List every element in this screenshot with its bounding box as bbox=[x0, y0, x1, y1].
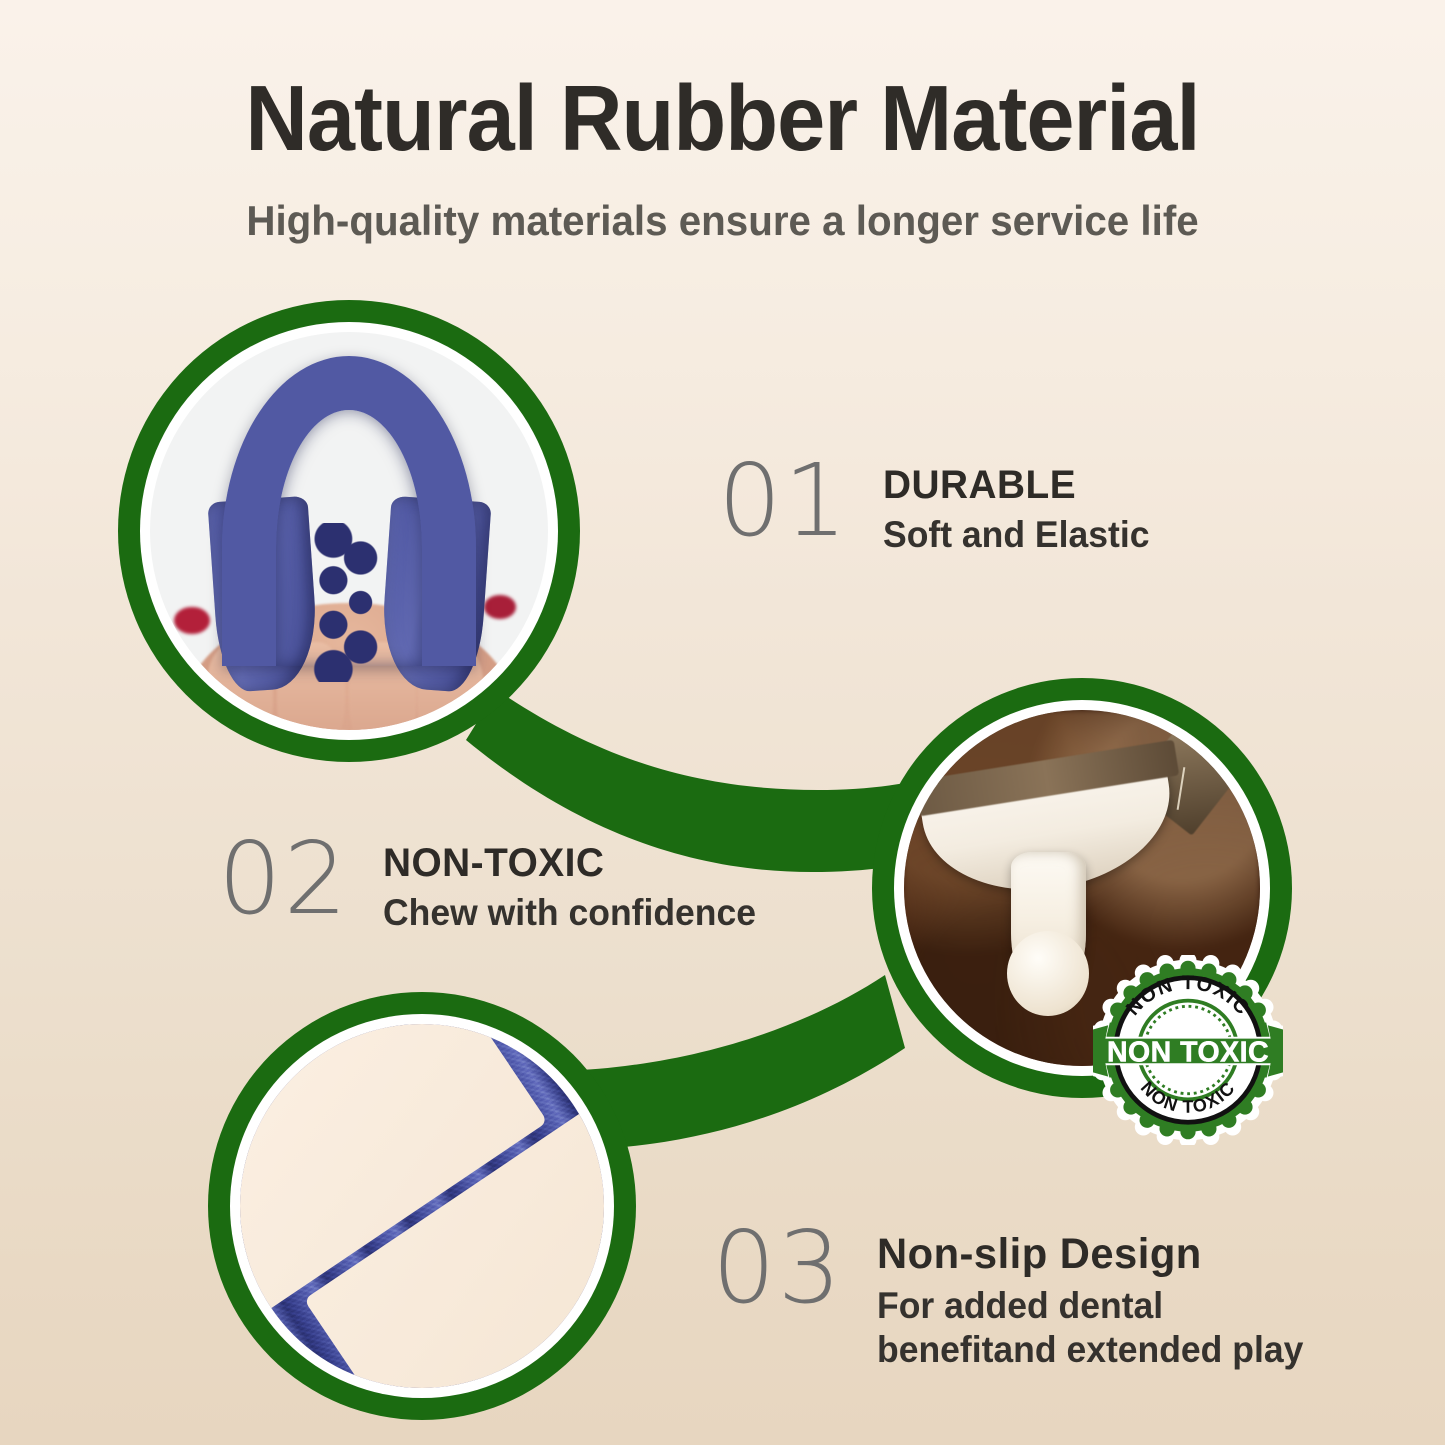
feature-image-non-slip bbox=[208, 992, 636, 1420]
feature-title-non-slip: Non-slip Design bbox=[877, 1230, 1308, 1279]
feature-subtitle-non-slip: For added dental benefitand extended pla… bbox=[877, 1285, 1303, 1371]
feature-subtitle-line2: benefitand extended play bbox=[877, 1329, 1303, 1371]
toy-nub-texture bbox=[313, 523, 381, 682]
circle-white-ring-1 bbox=[140, 322, 558, 740]
feature-text-01: DURABLE Soft and Elastic bbox=[883, 455, 1161, 556]
feature-image-durable bbox=[118, 300, 580, 762]
circle-white-ring-3 bbox=[230, 1014, 614, 1398]
feature-subtitle-durable: Soft and Elastic bbox=[883, 514, 1149, 556]
photo-blue-toy-in-hand bbox=[150, 332, 548, 730]
feature-block-non-toxic: 02 NON-TOXIC Chew with confidence bbox=[218, 833, 772, 934]
feature-number-01: 01 bbox=[718, 455, 849, 547]
feature-subtitle-line1: For added dental bbox=[877, 1285, 1163, 1326]
feature-subtitle-non-toxic: Chew with confidence bbox=[383, 892, 756, 934]
feature-text-02: NON-TOXIC Chew with confidence bbox=[383, 833, 772, 934]
badge-banner-text: NON TOXIC bbox=[1107, 1036, 1269, 1068]
nail-polish-spot bbox=[174, 607, 210, 635]
nail-polish-spot bbox=[484, 595, 516, 619]
feature-block-durable: 01 DURABLE Soft and Elastic bbox=[718, 455, 1161, 556]
photo-ribbed-texture bbox=[240, 1024, 604, 1388]
latex-droplet bbox=[1007, 931, 1089, 1016]
non-toxic-badge: NON TOXIC NON TOXIC NON TOXIC bbox=[1093, 955, 1283, 1145]
feature-number-02: 02 bbox=[218, 833, 349, 925]
infographic-poster: Natural Rubber Material High-quality mat… bbox=[0, 0, 1445, 1445]
feature-title-durable: DURABLE bbox=[883, 463, 1152, 508]
feature-number-03: 03 bbox=[712, 1222, 843, 1314]
feature-text-03: Non-slip Design For added dental benefit… bbox=[877, 1222, 1321, 1371]
feature-block-non-slip: 03 Non-slip Design For added dental bene… bbox=[712, 1222, 1321, 1371]
feature-title-non-toxic: NON-TOXIC bbox=[383, 841, 760, 886]
